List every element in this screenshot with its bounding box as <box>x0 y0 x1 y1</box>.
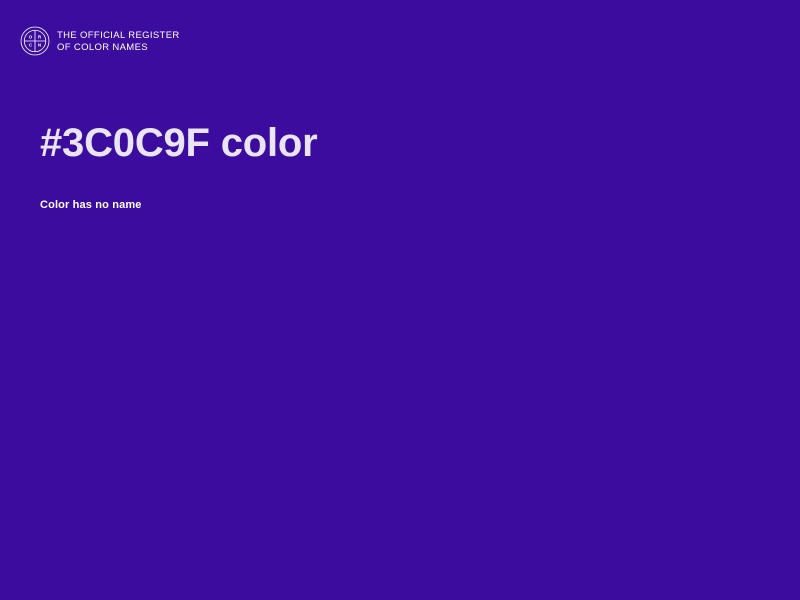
svg-text:O: O <box>29 34 33 39</box>
color-name-status: Color has no name <box>40 167 760 212</box>
logo-line-1: THE OFFICIAL REGISTER <box>57 30 180 41</box>
register-seal-icon: O R C N <box>20 26 50 56</box>
site-logo[interactable]: O R C N THE OFFICIAL REGISTER OF COLOR N… <box>20 26 180 56</box>
logo-line-2: OF COLOR NAMES <box>57 42 180 53</box>
logo-text: THE OFFICIAL REGISTER OF COLOR NAMES <box>57 29 180 52</box>
color-info-block: #3C0C9F color Color has no name <box>40 120 760 212</box>
svg-text:C: C <box>29 43 33 48</box>
color-page: O R C N THE OFFICIAL REGISTER OF COLOR N… <box>0 0 800 600</box>
svg-text:R: R <box>38 34 42 39</box>
svg-text:N: N <box>38 43 41 48</box>
page-title: #3C0C9F color <box>40 120 760 167</box>
